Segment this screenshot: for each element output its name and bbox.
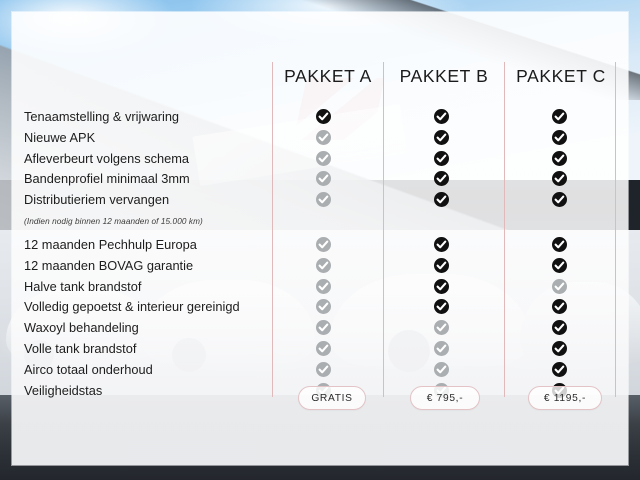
check-c-included	[552, 341, 567, 356]
feature-label: Halve tank brandstof	[24, 280, 141, 294]
column-header-pakket-b: PAKKET B	[388, 66, 500, 87]
check-a-excluded	[316, 171, 331, 186]
feature-note: (Indien nodig binnen 12 maanden of 15.00…	[24, 215, 203, 229]
price-pakket-b[interactable]: € 795,-	[410, 386, 480, 410]
check-a-excluded	[316, 192, 331, 207]
check-c-included	[552, 320, 567, 335]
check-a-included	[316, 109, 331, 124]
feature-label: Airco totaal onderhoud	[24, 363, 153, 377]
check-c-included	[552, 237, 567, 252]
feature-label: Veiligheidstas	[24, 384, 102, 398]
check-c-included	[552, 192, 567, 207]
column-header-pakket-a: PAKKET A	[276, 66, 380, 87]
column-divider-ab	[383, 62, 384, 397]
check-c-included	[552, 299, 567, 314]
feature-label: Volledig gepoetst & interieur gereinigd	[24, 300, 240, 314]
feature-label: Afleverbeurt volgens schema	[24, 152, 189, 166]
feature-label: Tenaamstelling & vrijwaring	[24, 110, 179, 124]
check-a-excluded	[316, 151, 331, 166]
check-b-included	[434, 130, 449, 145]
column-divider-bc	[504, 62, 505, 397]
check-c-included	[552, 258, 567, 273]
feature-label: Bandenprofiel minimaal 3mm	[24, 172, 190, 186]
check-b-included	[434, 192, 449, 207]
check-b-included	[434, 279, 449, 294]
check-b-included	[434, 171, 449, 186]
check-b-included	[434, 109, 449, 124]
column-divider-left	[272, 62, 273, 397]
price-pakket-c[interactable]: € 1195,-	[528, 386, 602, 410]
check-c-excluded	[552, 279, 567, 294]
check-c-included	[552, 171, 567, 186]
check-b-included	[434, 151, 449, 166]
feature-label: Waxoyl behandeling	[24, 321, 139, 335]
check-b-excluded	[434, 341, 449, 356]
check-a-excluded	[316, 237, 331, 252]
check-b-included	[434, 237, 449, 252]
check-a-excluded	[316, 362, 331, 377]
check-b-excluded	[434, 320, 449, 335]
price-pakket-a[interactable]: GRATIS	[298, 386, 366, 410]
feature-label: 12 maanden BOVAG garantie	[24, 259, 193, 273]
check-c-included	[552, 151, 567, 166]
check-c-included	[552, 130, 567, 145]
pricing-table-screenshot: PAKKET A PAKKET B PAKKET C Tenaamstellin…	[0, 0, 640, 480]
feature-label: Nieuwe APK	[24, 131, 95, 145]
check-a-excluded	[316, 320, 331, 335]
column-divider-right	[615, 62, 616, 397]
check-b-included	[434, 299, 449, 314]
check-a-excluded	[316, 299, 331, 314]
check-b-excluded	[434, 362, 449, 377]
feature-label: Volle tank brandstof	[24, 342, 136, 356]
check-a-excluded	[316, 279, 331, 294]
check-a-excluded	[316, 130, 331, 145]
feature-label: 12 maanden Pechhulp Europa	[24, 238, 197, 252]
feature-label: Distributieriem vervangen	[24, 193, 169, 207]
check-a-excluded	[316, 341, 331, 356]
check-a-excluded	[316, 258, 331, 273]
check-c-included	[552, 109, 567, 124]
check-b-included	[434, 258, 449, 273]
check-c-included	[552, 362, 567, 377]
column-header-pakket-c: PAKKET C	[509, 66, 613, 87]
